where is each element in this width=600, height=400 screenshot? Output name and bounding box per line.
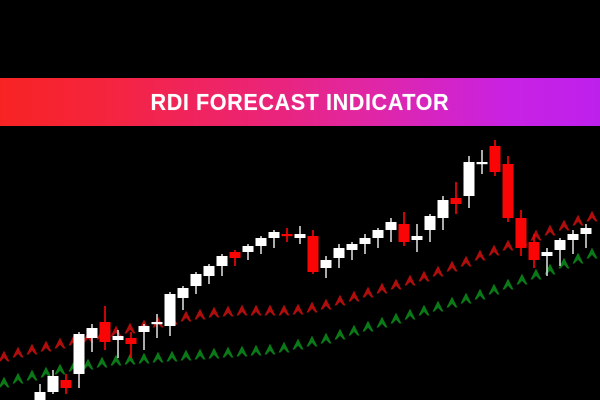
chart-canvas [0, 126, 600, 400]
candlestick-chart-panel[interactable] [0, 126, 600, 400]
screenshot-root: RDI FORECAST INDICATOR [0, 0, 600, 400]
candle [503, 156, 514, 222]
title-banner: RDI FORECAST INDICATOR [0, 78, 600, 126]
page-title: RDI FORECAST INDICATOR [151, 91, 450, 114]
candle [308, 230, 319, 274]
